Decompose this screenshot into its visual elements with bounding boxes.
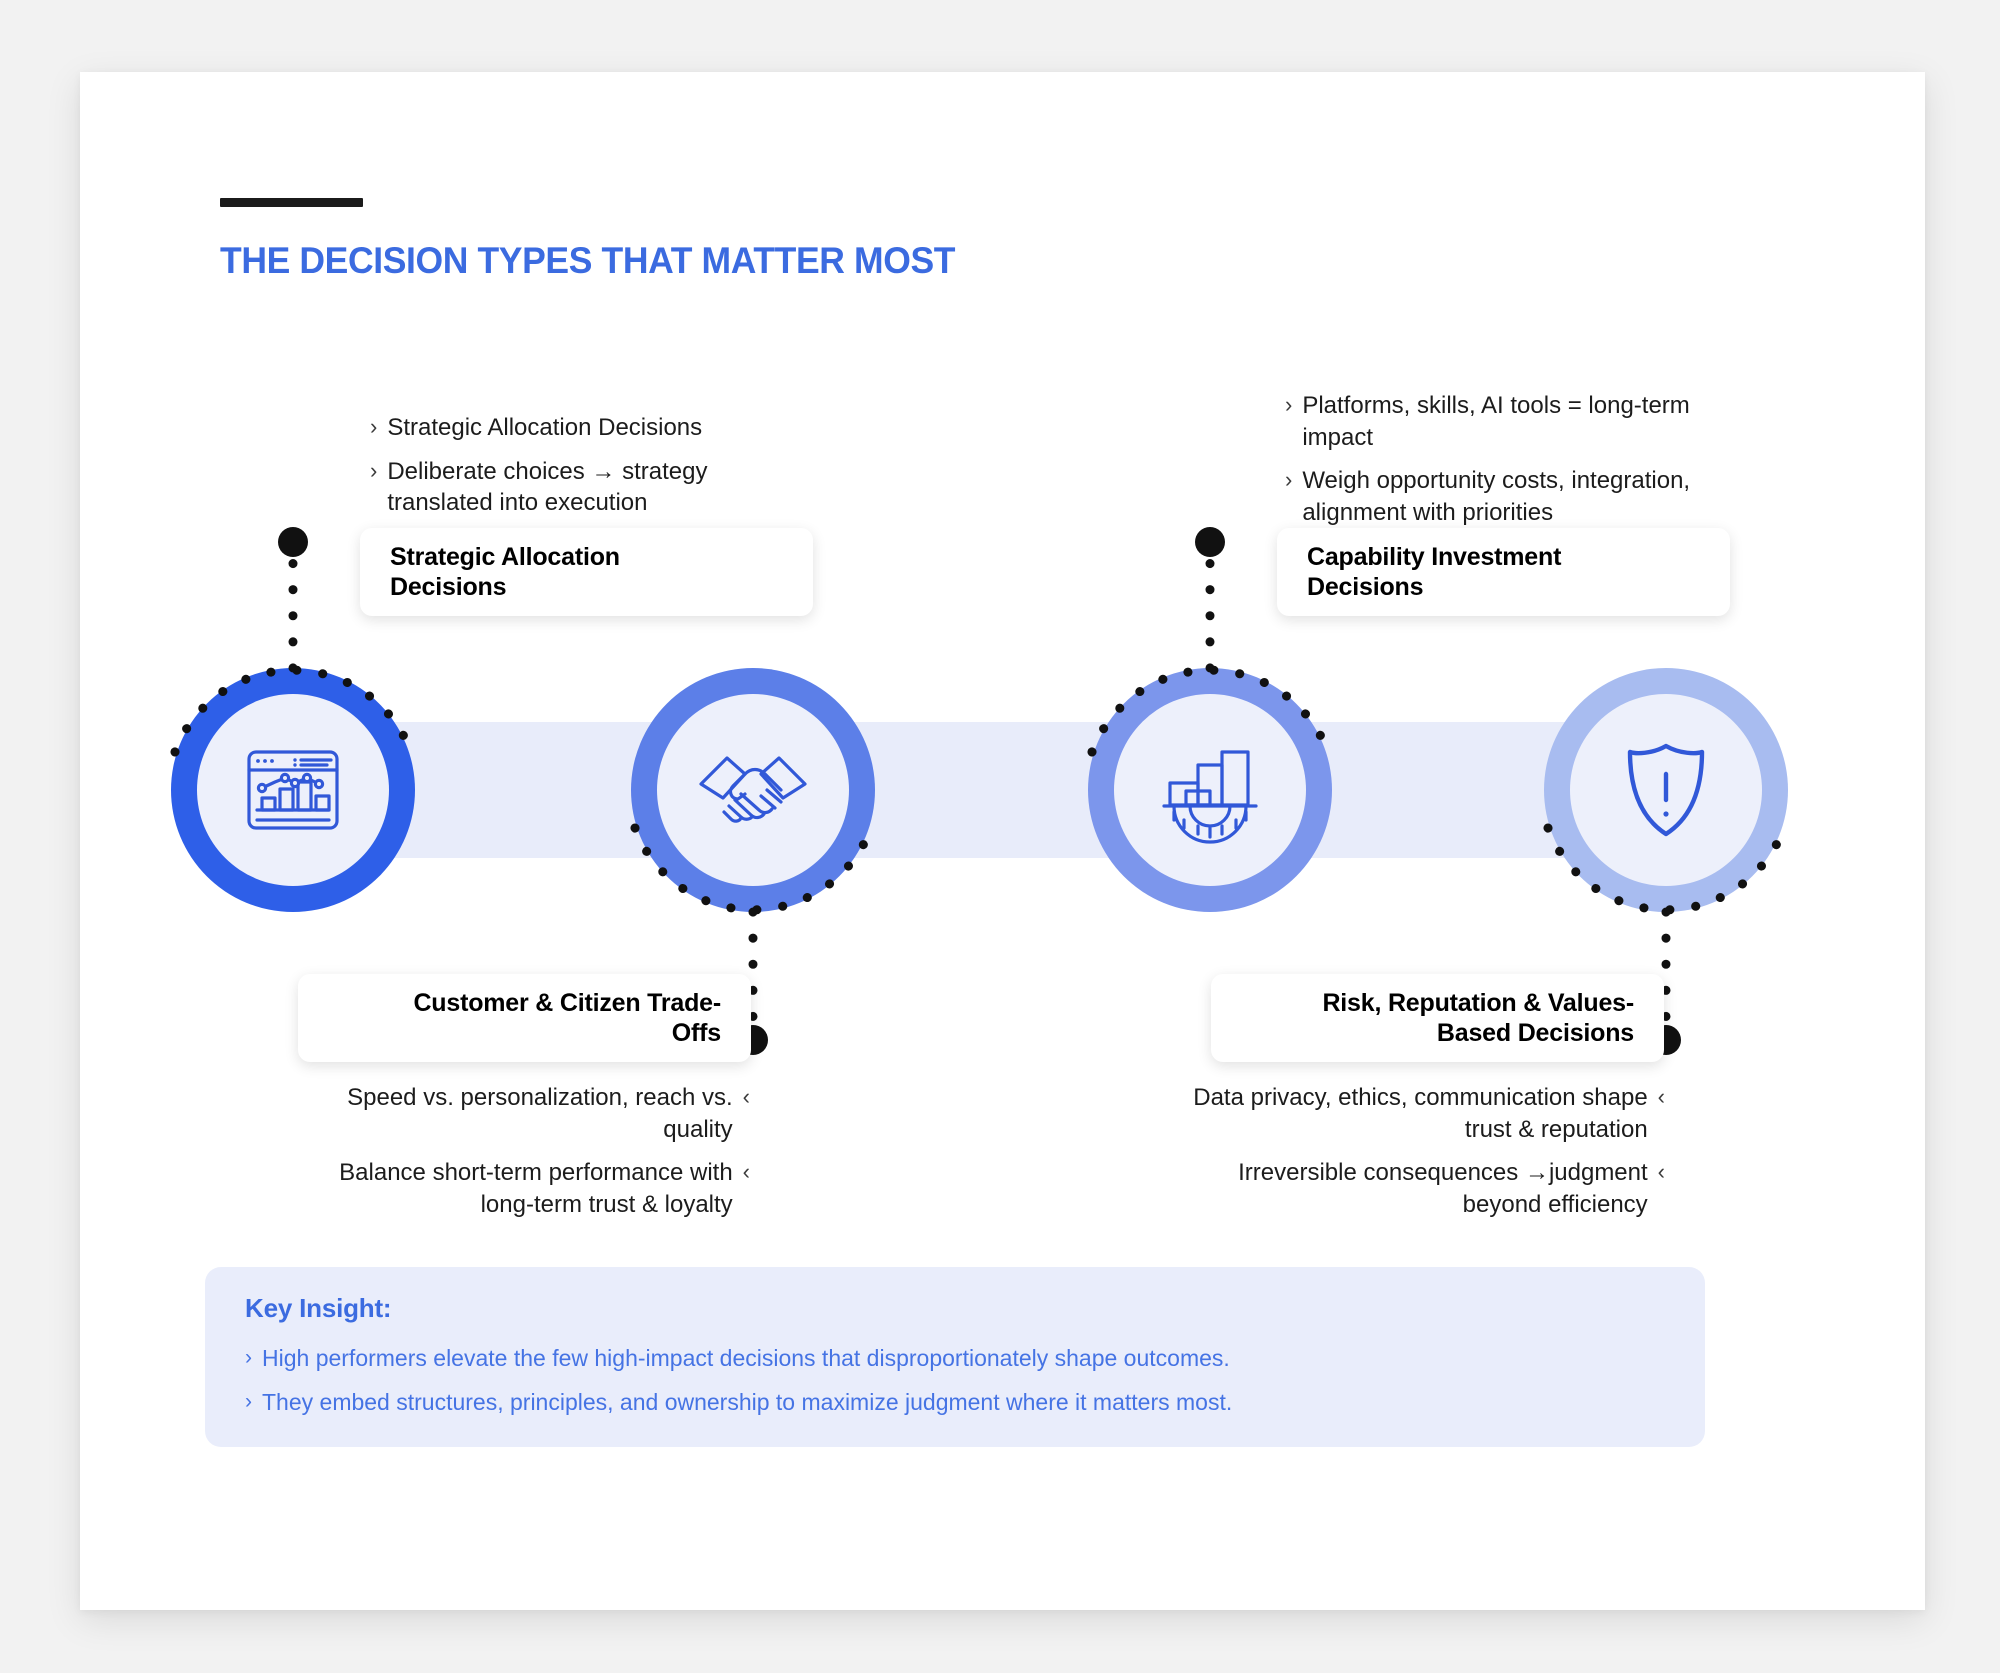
bullets-bottom-right: ‹ Data privacy, ethics, communication sh… — [1190, 1082, 1665, 1233]
card-title: Customer & Citizen Trade- Offs — [328, 988, 721, 1049]
bullet-item: ‹ Irreversible consequences →judgment be… — [1190, 1157, 1665, 1220]
key-insight-item: › They embed structures, principles, and… — [245, 1388, 1665, 1418]
slide-canvas: THE DECISION TYPES THAT MATTER MOST — [80, 72, 1925, 1610]
node-risk-reputation-circle — [1544, 668, 1788, 912]
card-capability-investment-decisions[interactable]: Capability Investment Decisions — [1277, 528, 1730, 616]
key-insight-panel: Key Insight: › High performers elevate t… — [205, 1267, 1705, 1447]
card-title: Strategic Allocation Decisions — [390, 542, 620, 603]
page-title: THE DECISION TYPES THAT MATTER MOST — [220, 240, 955, 282]
bullet-item: ‹ Data privacy, ethics, communication sh… — [1190, 1082, 1665, 1145]
bullet-text: Balance short-term performance with long… — [310, 1157, 733, 1220]
chevron-right-icon: › — [1285, 465, 1292, 528]
bullet-text: Weigh opportunity costs, integration, al… — [1302, 465, 1745, 528]
bullets-top-right: › Platforms, skills, AI tools = long-ter… — [1285, 390, 1745, 541]
connector-band — [330, 722, 1620, 858]
node-customer-citizen-circle — [631, 668, 875, 912]
card-title-line1: Risk, Reputation & Values- — [1322, 989, 1634, 1017]
key-insight-text: High performers elevate the few high-imp… — [262, 1344, 1230, 1374]
bullets-top-left: › Strategic Allocation Decisions › Delib… — [370, 412, 760, 531]
node-capability-investment-circle — [1088, 668, 1332, 912]
card-title-line2: Based Decisions — [1437, 1019, 1634, 1047]
bullet-item: › Weigh opportunity costs, integration, … — [1285, 465, 1745, 528]
bullet-item: › Strategic Allocation Decisions — [370, 412, 760, 444]
card-title: Capability Investment Decisions — [1307, 542, 1561, 603]
card-risk-reputation-values-based-decisions[interactable]: Risk, Reputation & Values- Based Decisio… — [1211, 974, 1664, 1062]
bullet-text: Data privacy, ethics, communication shap… — [1190, 1082, 1648, 1145]
card-title-line1: Customer & Citizen Trade- — [413, 989, 721, 1017]
bullet-text: Strategic Allocation Decisions — [387, 412, 702, 444]
card-title-line2: Decisions — [1307, 573, 1423, 601]
handshake-icon — [701, 758, 805, 821]
node-strategic-allocation-circle — [171, 668, 415, 912]
key-insight-item: › High performers elevate the few high-i… — [245, 1344, 1665, 1374]
bullet-item: ‹ Speed vs. personalization, reach vs. q… — [310, 1082, 750, 1145]
card-title-line2: Offs — [672, 1019, 721, 1047]
bullet-text: Irreversible consequences →judgment beyo… — [1190, 1157, 1648, 1220]
analytics-dashboard-icon — [249, 752, 337, 828]
chevron-right-icon: › — [1285, 390, 1292, 453]
shield-alert-icon — [1630, 746, 1702, 834]
chevron-left-icon: ‹ — [1658, 1082, 1665, 1145]
card-customer-citizen-trade-offs[interactable]: Customer & Citizen Trade- Offs — [298, 974, 751, 1062]
key-insight-text: They embed structures, principles, and o… — [262, 1388, 1232, 1418]
bullet-item: › Deliberate choices → strategy translat… — [370, 456, 760, 519]
chevron-right-icon: › — [245, 1344, 252, 1374]
chevron-left-icon: ‹ — [743, 1082, 750, 1145]
card-title-line1: Strategic Allocation — [390, 543, 620, 571]
bullet-text: Platforms, skills, AI tools = long-term … — [1302, 390, 1745, 453]
chevron-right-icon: › — [370, 412, 377, 444]
title-rule — [220, 198, 363, 207]
bullet-text: Speed vs. personalization, reach vs. qua… — [310, 1082, 733, 1145]
key-insight-title: Key Insight: — [245, 1293, 1665, 1324]
chevron-left-icon: ‹ — [1658, 1157, 1665, 1220]
dotted-arc-node4 — [1548, 828, 1784, 910]
stem-end-dot-node1 — [278, 527, 308, 557]
card-title: Risk, Reputation & Values- Based Decisio… — [1241, 988, 1634, 1049]
card-title-line2: Decisions — [390, 573, 506, 601]
dotted-arc-node1 — [175, 670, 411, 752]
bullet-item: ‹ Balance short-term performance with lo… — [310, 1157, 750, 1220]
chevron-left-icon: ‹ — [743, 1157, 750, 1220]
bullets-bottom-left: ‹ Speed vs. personalization, reach vs. q… — [310, 1082, 750, 1233]
bullet-item: › Platforms, skills, AI tools = long-ter… — [1285, 390, 1745, 453]
capability-gear-chart-icon — [1164, 752, 1256, 842]
dotted-arc-node2 — [635, 828, 871, 910]
card-title-line1: Capability Investment — [1307, 543, 1561, 571]
bullet-text: Deliberate choices → strategy translated… — [387, 456, 760, 519]
stem-end-dot-node3 — [1195, 527, 1225, 557]
chevron-right-icon: › — [370, 456, 377, 519]
chevron-right-icon: › — [245, 1388, 252, 1418]
card-strategic-allocation-decisions[interactable]: Strategic Allocation Decisions — [360, 528, 813, 616]
dotted-arc-node3 — [1092, 670, 1328, 752]
